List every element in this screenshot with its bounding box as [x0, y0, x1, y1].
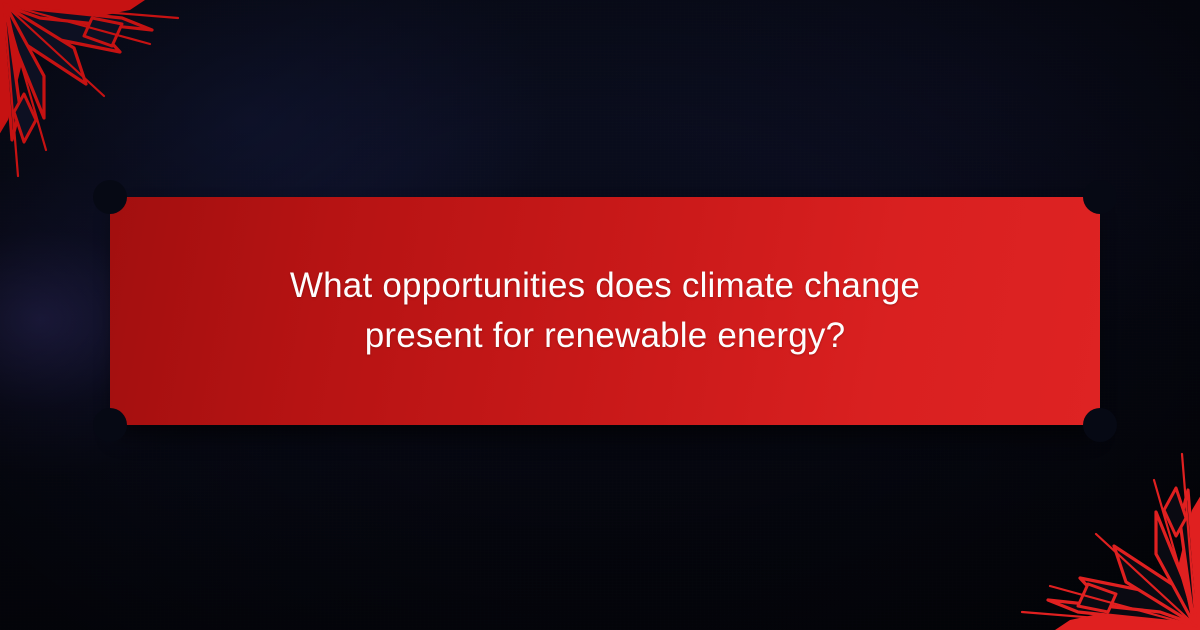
card-notch-bottom-right: [1083, 408, 1117, 442]
question-line-2: present for renewable energy?: [225, 311, 985, 361]
card-notch-top-left: [93, 180, 127, 214]
question-card-wrapper: What opportunities does climate change p…: [110, 197, 1100, 425]
question-headline: What opportunities does climate change p…: [225, 261, 985, 360]
question-line-1: What opportunities does climate change: [290, 266, 920, 305]
card-notch-bottom-left: [93, 408, 127, 442]
question-card: What opportunities does climate change p…: [110, 197, 1100, 425]
poster-canvas: What opportunities does climate change p…: [0, 0, 1200, 630]
card-notch-top-right: [1083, 180, 1117, 214]
